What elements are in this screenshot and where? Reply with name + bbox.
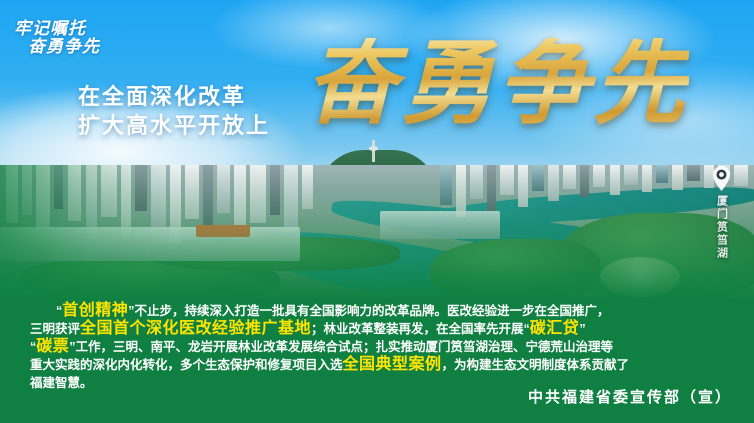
building — [734, 165, 748, 186]
building — [302, 165, 313, 209]
highlight-carbon-ticket: 碳票 — [36, 338, 69, 355]
building — [185, 165, 199, 219]
location-marker: 厦门筼筜湖 — [712, 166, 731, 260]
building — [518, 165, 528, 207]
body-line-2-mid: ；林业改革整装再发，在全国率先开展 — [311, 322, 524, 336]
building — [624, 165, 638, 185]
building — [36, 165, 50, 229]
building — [54, 165, 63, 209]
building — [487, 165, 496, 211]
building — [470, 165, 483, 199]
body-line-1-rest: 不止步，持续深入打造一批具有全国影响力的改革品牌。医改经验进一步在全国推广， — [135, 304, 610, 318]
body-line-4-pre: 重大实践的深化内化转化，多个生态保护和修复项目入选 — [30, 358, 343, 372]
highlight-founding-spirit: 首创精神 — [62, 302, 128, 319]
park-island — [430, 239, 600, 300]
building — [532, 165, 544, 191]
body-line-4-rest: ，为构建生态文明制度体系贡献了 — [442, 358, 630, 372]
building — [563, 165, 576, 189]
building — [68, 165, 81, 221]
building — [456, 165, 466, 217]
building — [135, 165, 147, 211]
building — [642, 165, 652, 192]
building — [101, 165, 117, 217]
lowrise-block — [0, 227, 300, 261]
orange-roof-building — [196, 225, 250, 237]
building — [548, 165, 559, 201]
building — [440, 165, 452, 205]
building — [580, 165, 589, 197]
building — [203, 165, 213, 231]
body-line-2-pre: 三明获评 — [30, 322, 80, 336]
logo-line-2: 奋勇争先 — [14, 38, 100, 56]
plaza-circle — [600, 257, 680, 297]
aerial-cityscape-photo — [0, 165, 754, 300]
building — [22, 165, 32, 215]
body-line-3: “碳票”工作，三明、南平、龙岩开展林业改革发展综合试点；扎实推动厦门筼筜湖治理、… — [30, 338, 730, 356]
building — [672, 165, 683, 190]
building — [500, 165, 514, 195]
campaign-logo: 牢记嘱托 奋勇争先 — [14, 20, 100, 56]
body-line-3-rest: 工作，三明、南平、龙岩开展林业改革发展综合试点；扎实推动厦门筼筜湖治理、宁德荒山… — [76, 340, 614, 354]
building — [151, 165, 166, 227]
publisher-signature: 中共福建省委宣传部（宣） — [528, 386, 732, 407]
headline-line-2: 扩大高水平开放上 — [78, 111, 270, 140]
map-pin-icon — [712, 166, 731, 191]
building — [86, 165, 97, 233]
building — [217, 165, 230, 213]
building — [687, 165, 700, 181]
building — [656, 165, 668, 183]
highlight-carbon-sink-loan: 碳汇贷 — [530, 320, 580, 337]
logo-line-1: 牢记嘱托 — [14, 20, 100, 38]
highlight-medical-reform-base: 全国首个深化医改经验推广基地 — [80, 320, 311, 337]
highlight-national-case: 全国典型案例 — [343, 356, 442, 373]
body-line-2: 三明获评全国首个深化医改经验推广基地；林业改革整装再发，在全国率先开展“碳汇贷” — [30, 320, 730, 338]
location-label: 厦门筼筜湖 — [714, 195, 730, 260]
building — [270, 165, 280, 215]
hilltop-tower — [372, 140, 375, 162]
lowrise-block — [380, 211, 500, 239]
calligraphy-title: 奋勇争先 — [305, 38, 689, 130]
building — [610, 165, 620, 195]
building — [284, 165, 298, 231]
body-line-4: 重大实践的深化内化转化，多个生态保护和修复项目入选全国典型案例，为构建生态文明制… — [30, 356, 730, 374]
headline-line-1: 在全面深化改革 — [78, 82, 270, 111]
body-line-1: “首创精神”不止步，持续深入打造一批具有全国影响力的改革品牌。医改经验进一步在全… — [30, 302, 730, 320]
quote-close: ” — [579, 322, 585, 336]
building — [6, 165, 18, 223]
building — [250, 165, 266, 223]
body-copy: “首创精神”不止步，持续深入打造一批具有全国影响力的改革品牌。医改经验进一步在全… — [30, 302, 730, 392]
page-title: 在全面深化改革 扩大高水平开放上 — [78, 82, 270, 140]
poster-root: 牢记嘱托 奋勇争先 在全面深化改革 扩大高水平开放上 奋勇争先 厦门筼筜湖 “首… — [0, 0, 754, 423]
building — [593, 165, 605, 187]
